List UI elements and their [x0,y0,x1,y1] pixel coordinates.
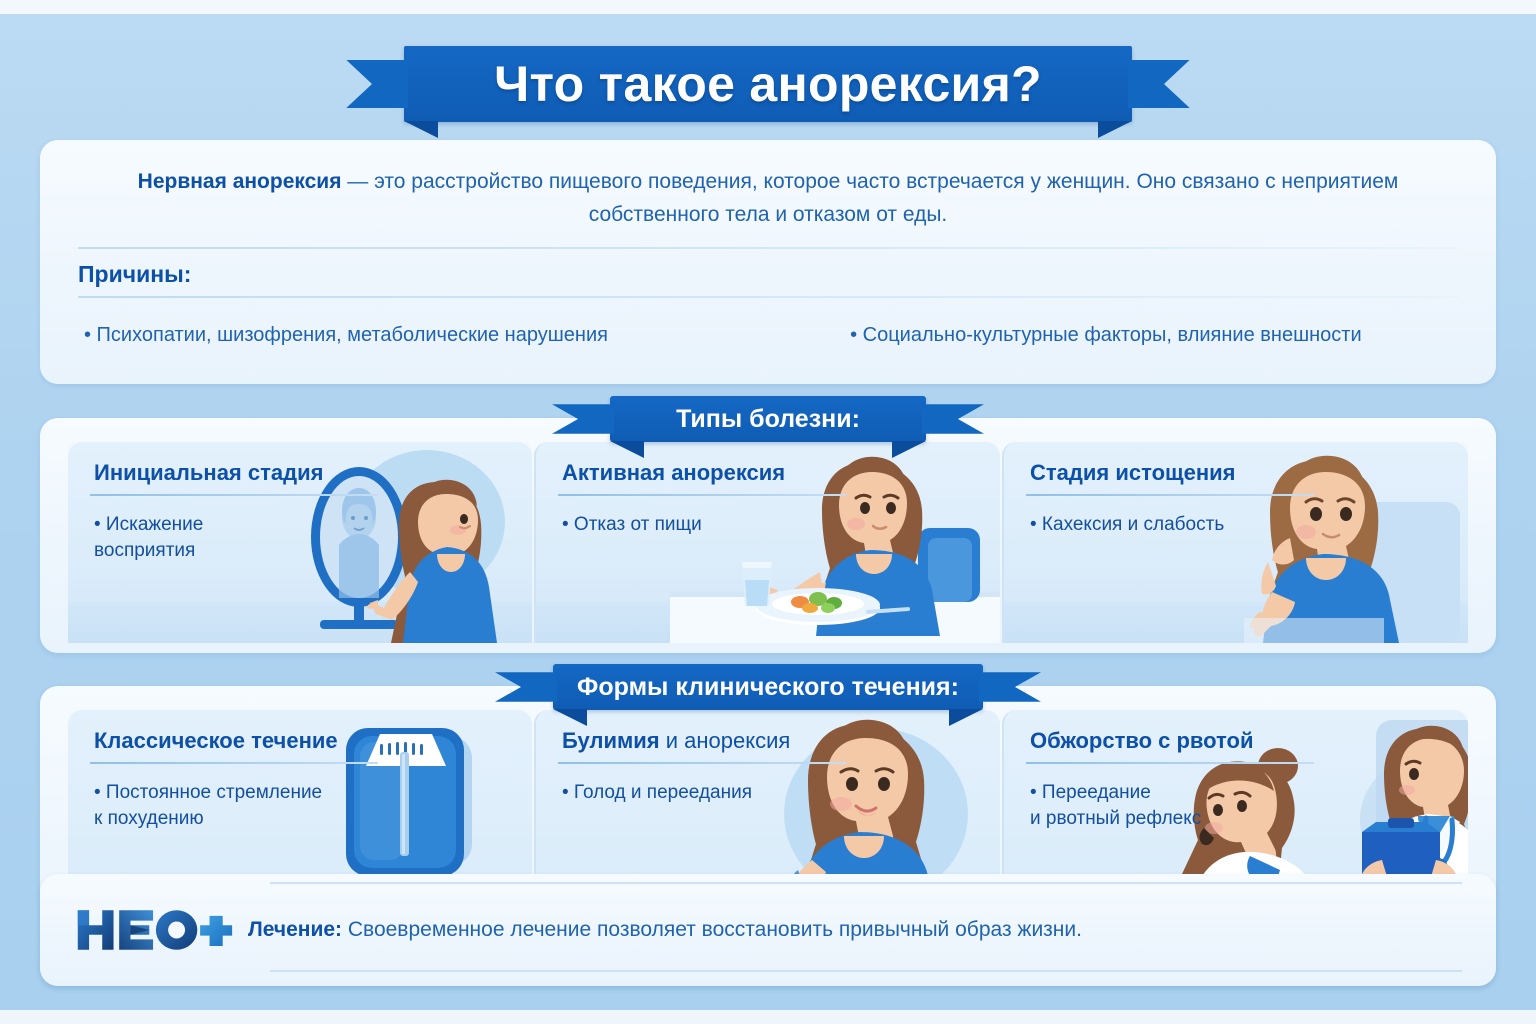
type-card-exhaustion-stage: Стадия истощения • Кахексия и слабость [1002,442,1468,643]
heading-underline [90,494,378,496]
bullet-line-1: • Переедание [1030,780,1201,806]
heading-underline [90,762,378,764]
ribbon-tail-right [922,404,984,433]
forms-banner-wrap: Формы клинического течения: [0,664,1536,710]
page-title: Что такое анорексия? [494,55,1042,113]
type-card-heading: Стадия истощения [1030,460,1235,486]
type-card-bullet: • Кахексия и слабость [1030,512,1224,538]
heading-bold: Обжорство с рвотой [1030,728,1254,753]
treatment-body: Своевременное лечение позволяет восстано… [342,918,1082,941]
types-panel: Инициальная стадия • Искажение восприяти… [40,418,1496,653]
treatment-label: Лечение: [248,918,342,941]
bullet-line-1: • Постоянное стремление [94,780,322,806]
bullet-line-1: • Голод и переедания [562,780,752,806]
causes-divider [78,296,1458,298]
treatment-divider-bottom [270,970,1462,972]
treatment-divider-top [270,882,1462,884]
neo-plus-logo [74,902,234,958]
type-card-heading: Инициальная стадия [94,460,323,486]
heading-light: и анорексия [660,728,791,753]
heading-underline [558,762,846,764]
bullet-line-1: • Кахексия и слабость [1030,512,1224,538]
intro-paragraph: Нервная анорексия — это расстройство пищ… [40,140,1496,231]
ribbon-tail-right [1128,60,1190,109]
intro-panel: Нервная анорексия — это расстройство пищ… [40,140,1496,384]
bullet-line-1: • Искажение [94,512,203,538]
ribbon-tail-right [979,672,1041,701]
bullet-line-1: • Отказ от пищи [562,512,702,538]
treatment-text: Лечение: Своевременное лечение позволяет… [248,918,1082,942]
title-banner: Что такое анорексия? [404,46,1132,122]
card-floor [536,601,1000,643]
types-banner: Типы болезни: [610,396,926,442]
form-card-heading: Обжорство с рвотой [1030,728,1254,754]
treatment-row: Лечение: Своевременное лечение позволяет… [40,874,1496,986]
types-banner-wrap: Типы болезни: [0,396,1536,442]
card-floor [68,601,532,643]
types-card-row: Инициальная стадия • Искажение восприяти… [68,442,1468,643]
bullet-line-2: восприятия [94,538,203,564]
bottom-edge-strip [0,1010,1536,1024]
type-card-initial-stage: Инициальная стадия • Искажение восприяти… [68,442,532,643]
ribbon-fold-left [404,121,438,138]
heading-underline [1026,762,1314,764]
card-floor [1004,601,1468,643]
type-card-active-anorexia: Активная анорексия • Отказ от пищи [534,442,1000,643]
bullet-line-2: к похудению [94,806,322,832]
type-card-bullet: • Отказ от пищи [562,512,702,538]
top-edge-strip [0,0,1536,14]
ribbon-tail-left [495,672,557,701]
heading-underline [1026,494,1314,496]
intro-lead-term: Нервная анорексия [138,170,342,193]
causes-title: Причины: [78,261,1496,288]
heading-underline [558,494,846,496]
infographic-page: Что такое анорексия? Нервная анорексия —… [0,0,1536,1024]
ribbon-tail-left [552,404,614,433]
ribbon-tail-left [346,60,408,109]
type-card-bullet: • Искажение восприятия [94,512,203,563]
form-card-bullet: • Переедание и рвотный рефлекс [1030,780,1201,831]
intro-rest-text: — это расстройство пищевого поведения, к… [341,170,1398,226]
cause-item-1: • Психопатии, шизофрения, метаболические… [84,324,850,347]
treatment-panel: Лечение: Своевременное лечение позволяет… [40,874,1496,986]
heading-bold: Классическое течение [94,728,338,753]
bullet-line-2: и рвотный рефлекс [1030,806,1201,832]
forms-banner: Формы клинического течения: [553,664,983,710]
heading-bold: Булимия [562,728,660,753]
type-card-heading: Активная анорексия [562,460,785,486]
intro-divider [78,247,1458,249]
forms-banner-label: Формы клинического течения: [577,673,959,702]
form-card-heading: Классическое течение [94,728,338,754]
title-banner-wrap: Что такое анорексия? [0,46,1536,122]
form-card-bullet: • Голод и переедания [562,780,752,806]
types-banner-label: Типы болезни: [676,405,860,434]
form-card-bullet: • Постоянное стремление к похудению [94,780,322,831]
form-card-heading: Булимия и анорексия [562,728,790,754]
causes-row: • Психопатии, шизофрения, метаболические… [40,324,1496,347]
cause-item-2: • Социально-культурные факторы, влияние … [850,324,1452,347]
ribbon-fold-right [1098,121,1132,138]
